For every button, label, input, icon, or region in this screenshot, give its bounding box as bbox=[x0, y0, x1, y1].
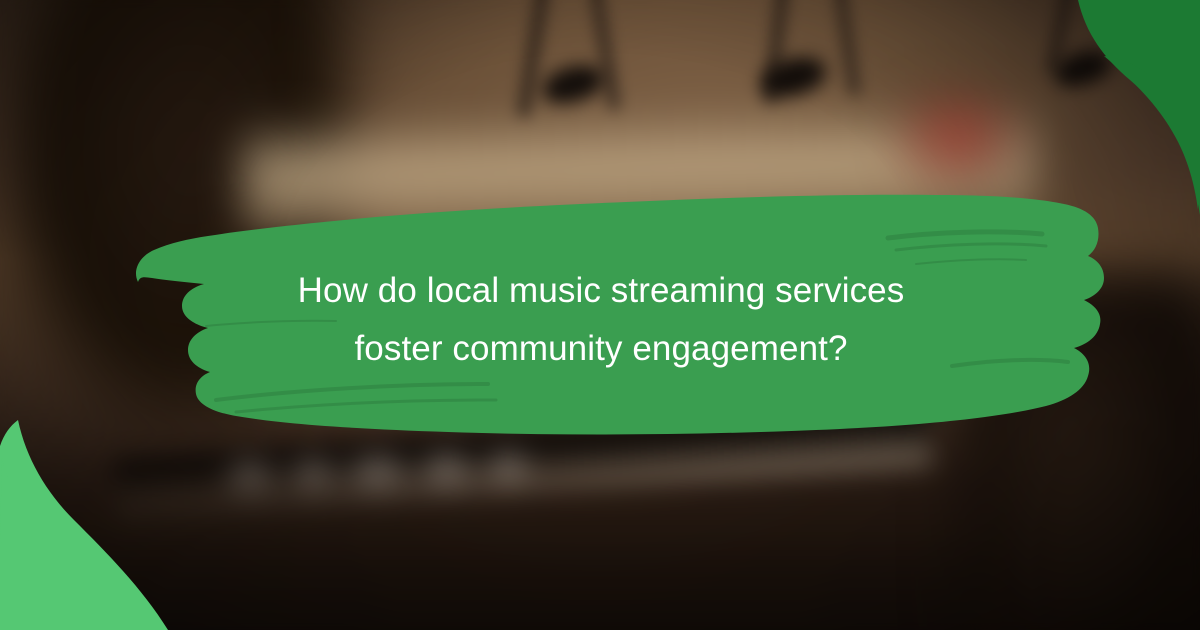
headline-line-2: foster community engagement? bbox=[354, 323, 847, 375]
question-headline: How do local music streaming services fo… bbox=[96, 186, 1106, 454]
headline-line-1: How do local music streaming services bbox=[298, 265, 905, 317]
share-card: How do local music streaming services fo… bbox=[0, 0, 1200, 630]
